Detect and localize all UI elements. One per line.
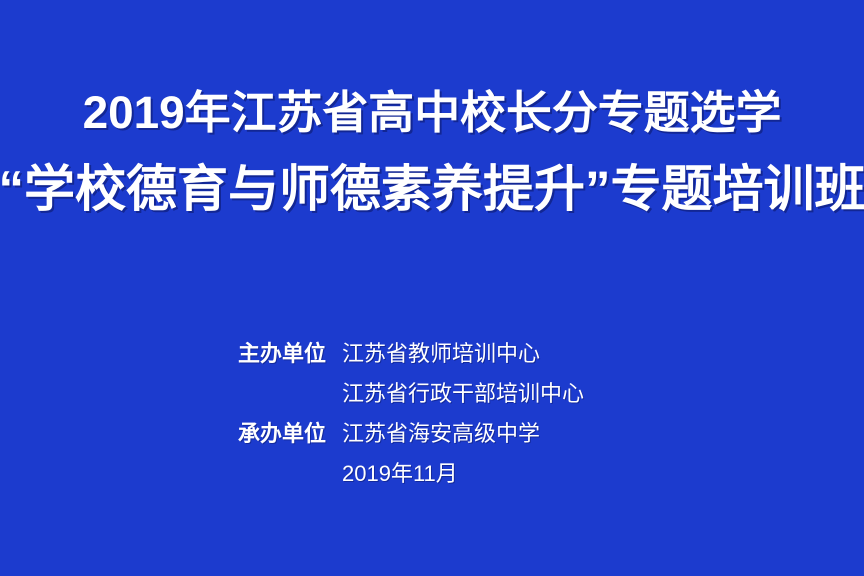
credit-value-organizer-secondary: 江苏省行政干部培训中心 bbox=[342, 376, 584, 408]
presentation-title-slide: 2019年江苏省高中校长分专题选学 “学校德育与师德素养提升”专题培训班 主办单… bbox=[0, 0, 864, 576]
credit-value-host: 江苏省海安高级中学 bbox=[342, 416, 540, 448]
credit-value-organizer-primary: 江苏省教师培训中心 bbox=[342, 336, 540, 368]
credit-row: 承办单位 江苏省海安高级中学 bbox=[238, 416, 658, 456]
title-line-primary: 2019年江苏省高中校长分专题选学 bbox=[0, 84, 864, 142]
credit-row: 江苏省行政干部培训中心 bbox=[238, 376, 658, 416]
credits-block: 主办单位 江苏省教师培训中心 江苏省行政干部培训中心 承办单位 江苏省海安高级中… bbox=[238, 336, 658, 496]
title-block: 2019年江苏省高中校长分专题选学 “学校德育与师德素养提升”专题培训班 bbox=[0, 84, 864, 221]
credit-row: 2019年11月 bbox=[238, 456, 658, 496]
credit-row: 主办单位 江苏省教师培训中心 bbox=[238, 336, 658, 376]
title-line-secondary: “学校德育与师德素养提升”专题培训班 bbox=[0, 157, 864, 221]
credit-value-date: 2019年11月 bbox=[342, 456, 458, 488]
credit-label-organizer: 主办单位 bbox=[238, 336, 342, 368]
credit-label-host: 承办单位 bbox=[238, 416, 342, 448]
